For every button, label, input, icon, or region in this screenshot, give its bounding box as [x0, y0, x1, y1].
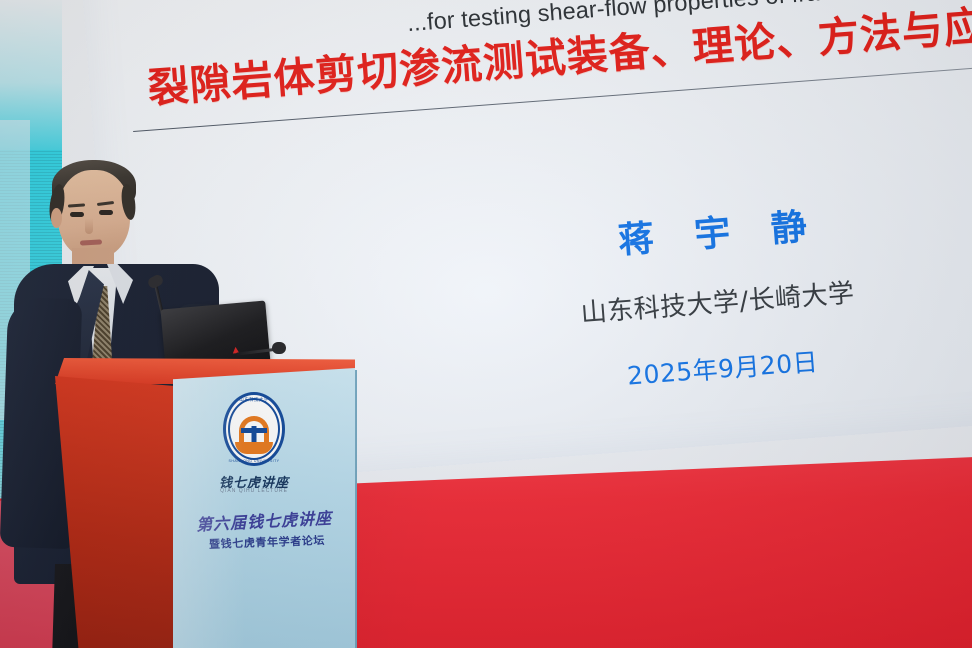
speaker-nose: [85, 218, 93, 234]
lectern-banner-line-2: 暨钱七虎青年学者论坛: [183, 531, 351, 553]
emblem-bottom-text: SHANDONG UNIVERSITY: [223, 459, 285, 463]
lectern: 山东科技大学 SHANDONG UNIVERSITY 钱七虎讲座 QIAN QI…: [55, 358, 355, 648]
slide-affiliation: 山东科技大学/长崎大学: [437, 262, 972, 341]
speaker-eye-left: [70, 212, 84, 217]
lectern-banner-line-1: 第六届钱七虎讲座: [174, 503, 353, 536]
conference-photo: ...theories, methods and applications ..…: [0, 0, 972, 648]
microphone-capsule: [146, 273, 164, 290]
emblem-inner-ring: [228, 398, 280, 460]
lectern-front-panel: 山东科技大学 SHANDONG UNIVERSITY 钱七虎讲座 QIAN QI…: [173, 368, 355, 648]
emblem-arch-shape: [239, 416, 269, 446]
emblem-top-text: 山东科技大学: [223, 397, 285, 403]
university-emblem-icon: 山东科技大学 SHANDONG UNIVERSITY: [223, 392, 285, 466]
emblem-subtitle-latin: QIAN QIHU LECTURE: [195, 488, 313, 494]
emblem-outer-ring: [223, 392, 285, 466]
speaker-ear: [51, 208, 62, 228]
emblem-wave-shape: [235, 442, 273, 454]
lectern-side-panel: [55, 376, 185, 648]
emblem-subtitle: 钱七虎讲座: [195, 472, 313, 491]
speaker-eye-right: [99, 210, 113, 215]
emblem-bar-shape: [241, 428, 267, 433]
microphone-secondary-capsule: [272, 342, 286, 354]
emblem-stem-shape: [252, 426, 257, 446]
